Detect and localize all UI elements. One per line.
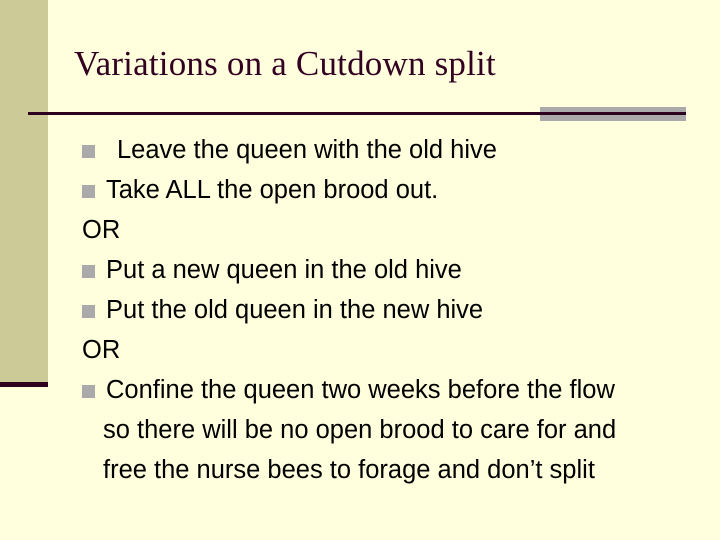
list-separator-text: OR — [82, 330, 696, 370]
slide-title: Variations on a Cutdown split — [74, 42, 690, 86]
list-item: Leave the queen with the old hive — [82, 130, 696, 170]
left-decorative-band — [0, 0, 48, 383]
title-divider-rule — [28, 112, 686, 115]
left-band-underline — [0, 382, 48, 387]
bullet-square-icon — [82, 185, 95, 198]
list-item: Confine the queen two weeks before the f… — [82, 370, 696, 410]
list-item-continuation: free the nurse bees to forage and don’t … — [82, 450, 696, 490]
bullet-square-icon — [82, 265, 95, 278]
list-item-continuation: so there will be no open brood to care f… — [82, 410, 696, 450]
list-item-label: Put a new queen in the old hive — [106, 256, 462, 284]
list-item: Put a new queen in the old hive — [82, 250, 696, 290]
list-item-label: Confine the queen two weeks before the f… — [106, 376, 615, 404]
bullet-square-icon — [82, 385, 95, 398]
list-item-label: Leave the queen with the old hive — [117, 136, 497, 164]
slide-body-list: Leave the queen with the old hive Take A… — [82, 130, 696, 490]
list-item-label: Take ALL the open brood out. — [106, 176, 438, 204]
list-item-label: Put the old queen in the new hive — [106, 296, 483, 324]
list-item: Take ALL the open brood out. — [82, 170, 696, 210]
bullet-square-icon — [82, 305, 95, 318]
list-item: Put the old queen in the new hive — [82, 290, 696, 330]
list-separator-text: OR — [82, 210, 696, 250]
slide-canvas: Variations on a Cutdown split Leave the … — [0, 0, 720, 540]
bullet-square-icon — [82, 145, 95, 158]
